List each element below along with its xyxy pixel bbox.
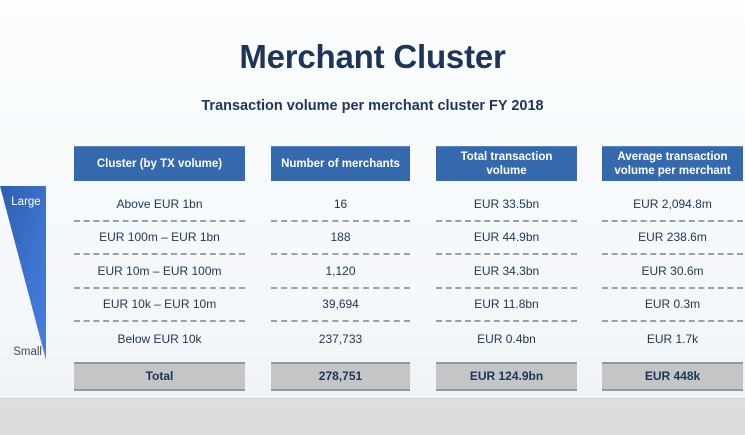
table-cell: EUR 100m – EUR 1bn [74,222,245,256]
column-header-merchants: Number of merchants [271,146,410,181]
column-cells-cluster: Above EUR 1bn EUR 100m – EUR 1bn EUR 10m… [74,188,245,356]
table-cell: EUR 44.9bn [436,222,577,256]
table-cell: EUR 0.4bn [436,322,577,356]
column-header-cluster: Cluster (by TX volume) [74,146,245,181]
table-cell: EUR 238.6m [602,222,743,256]
merchant-cluster-table: Cluster (by TX volume) Above EUR 1bn EUR… [74,146,743,391]
table-cell: 16 [271,188,410,222]
column-cells-avg-volume: EUR 2,094.8m EUR 238.6m EUR 30.6m EUR 0.… [602,188,743,356]
size-label-small: Small [2,346,42,358]
table-cell: 237,733 [271,322,410,356]
table-column-total-volume: Total transaction volume EUR 33.5bn EUR … [436,146,577,391]
table-cell: EUR 11.8bn [436,289,577,323]
column-header-total-volume: Total transaction volume [436,146,577,181]
column-header-avg-volume: Average transaction volume per merchant [602,146,743,181]
table-cell: 39,694 [271,289,410,323]
table-cell: EUR 30.6m [602,255,743,289]
page-title: Merchant Cluster [0,38,745,76]
table-column-merchants: Number of merchants 16 188 1,120 39,694 … [271,146,410,391]
table-cell: EUR 2,094.8m [602,188,743,222]
size-triangle-icon [0,186,48,360]
table-cell: 1,120 [271,255,410,289]
table-cell: EUR 34.3bn [436,255,577,289]
table-cell: EUR 10k – EUR 10m [74,289,245,323]
size-indicator: Large Small [0,186,48,360]
table-cell: EUR 10m – EUR 100m [74,255,245,289]
page-subtitle: Transaction volume per merchant cluster … [0,98,745,114]
size-label-large: Large [5,196,47,208]
slide-canvas: Merchant Cluster Transaction volume per … [0,0,745,435]
table-column-avg-volume: Average transaction volume per merchant … [602,146,743,391]
total-cell-cluster: Total [74,362,245,391]
slide-bottom-band-inner [0,410,745,435]
total-cell-merchants: 278,751 [271,362,410,391]
total-cell-avg-volume: EUR 448k [602,362,743,391]
table-cell: EUR 33.5bn [436,188,577,222]
table-column-cluster: Cluster (by TX volume) Above EUR 1bn EUR… [74,146,245,391]
table-cell: EUR 0.3m [602,289,743,323]
table-cell: EUR 1.7k [602,322,743,356]
table-cell: Below EUR 10k [74,322,245,356]
table-cell: 188 [271,222,410,256]
table-cell: Above EUR 1bn [74,188,245,222]
column-cells-total-volume: EUR 33.5bn EUR 44.9bn EUR 34.3bn EUR 11.… [436,188,577,356]
column-cells-merchants: 16 188 1,120 39,694 237,733 [271,188,410,356]
total-cell-total-volume: EUR 124.9bn [436,362,577,391]
